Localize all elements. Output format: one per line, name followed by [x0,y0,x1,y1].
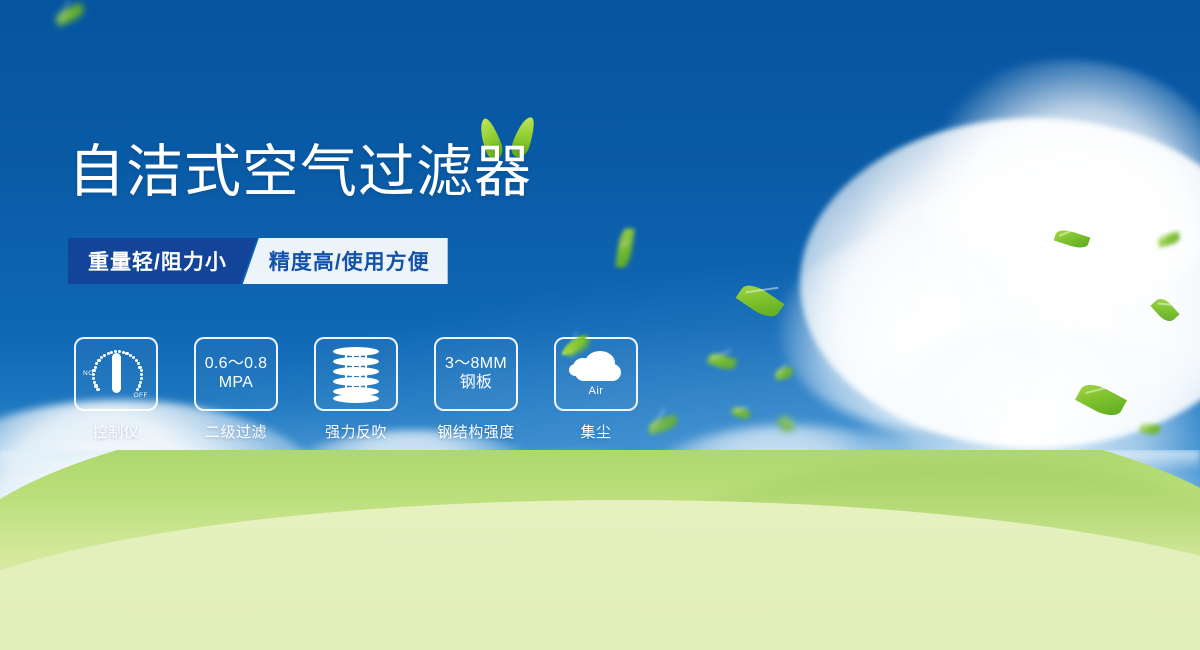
cloud-shape [569,351,623,381]
cloud-air-caption: Air [589,385,604,397]
gauge-needle [112,353,121,393]
gauge-dial-icon: NO OFF [84,345,148,403]
feature-label-secondary-filter: 二级过滤 [205,421,267,442]
subtitle-left-tag: 重量轻/阻力小 [68,238,257,284]
feature-icon-box-steel: 3～8MM 钢板 [434,337,518,411]
feature-icon-box-controller: NO OFF [74,337,158,411]
grass-field [0,450,1200,650]
feature-item-dust-collection[interactable]: Air 集尘 [550,337,642,442]
pressure-value-line2: MPA [219,374,253,393]
feature-icon-box-pressure: 0.6～0.8 MPA [194,337,278,411]
gauge-tick [137,362,140,365]
filter-stack-icon [329,345,383,403]
feature-icon-box-backblow [314,337,398,411]
gauge-tick [103,354,106,357]
gauge-tick [92,377,95,380]
hero-banner: 自洁式空气过滤器 重量轻/阻力小 精度高/使用方便 NO OFF 控制仪 0.6… [0,0,1200,650]
gauge-tick [94,366,97,369]
gauge-tick [140,377,143,380]
cloud-air-icon: Air [565,346,627,402]
gauge-tick [92,373,95,376]
gauge-tick [140,373,143,376]
pressure-value-line1: 0.6～0.8 [205,355,268,374]
feature-label-backblow: 强力反吹 [325,421,387,442]
feature-list: NO OFF 控制仪 0.6～0.8 MPA 二级过滤 [70,337,642,442]
steel-value-line1: 3～8MM [445,355,507,374]
gauge-tick [95,362,98,365]
subtitle-right-tag: 精度高/使用方便 [243,238,448,284]
feature-icon-box-dust: Air [554,337,638,411]
gauge-tick [138,366,141,369]
subtitle-banner: 重量轻/阻力小 精度高/使用方便 [68,238,448,284]
feature-item-backblow[interactable]: 强力反吹 [310,337,402,442]
feature-item-steel-strength[interactable]: 3～8MM 钢板 钢结构强度 [430,337,522,442]
page-title: 自洁式空气过滤器 [68,144,532,201]
gauge-tick [140,369,143,372]
feature-item-controller[interactable]: NO OFF 控制仪 [70,337,162,442]
feature-label-controller: 控制仪 [93,421,140,442]
gauge-tick [136,388,139,391]
steel-value-line2: 钢板 [460,374,493,393]
feature-label-dust-collection: 集尘 [580,421,611,442]
gauge-label-off: OFF [134,392,149,399]
feature-label-steel-strength: 钢结构强度 [437,421,515,442]
gauge-tick [118,350,121,353]
gauge-tick [94,384,97,387]
feature-item-secondary-filter[interactable]: 0.6～0.8 MPA 二级过滤 [190,337,282,442]
gauge-tick [96,388,99,391]
gauge-tick [97,359,100,362]
gauge-tick [92,369,95,372]
